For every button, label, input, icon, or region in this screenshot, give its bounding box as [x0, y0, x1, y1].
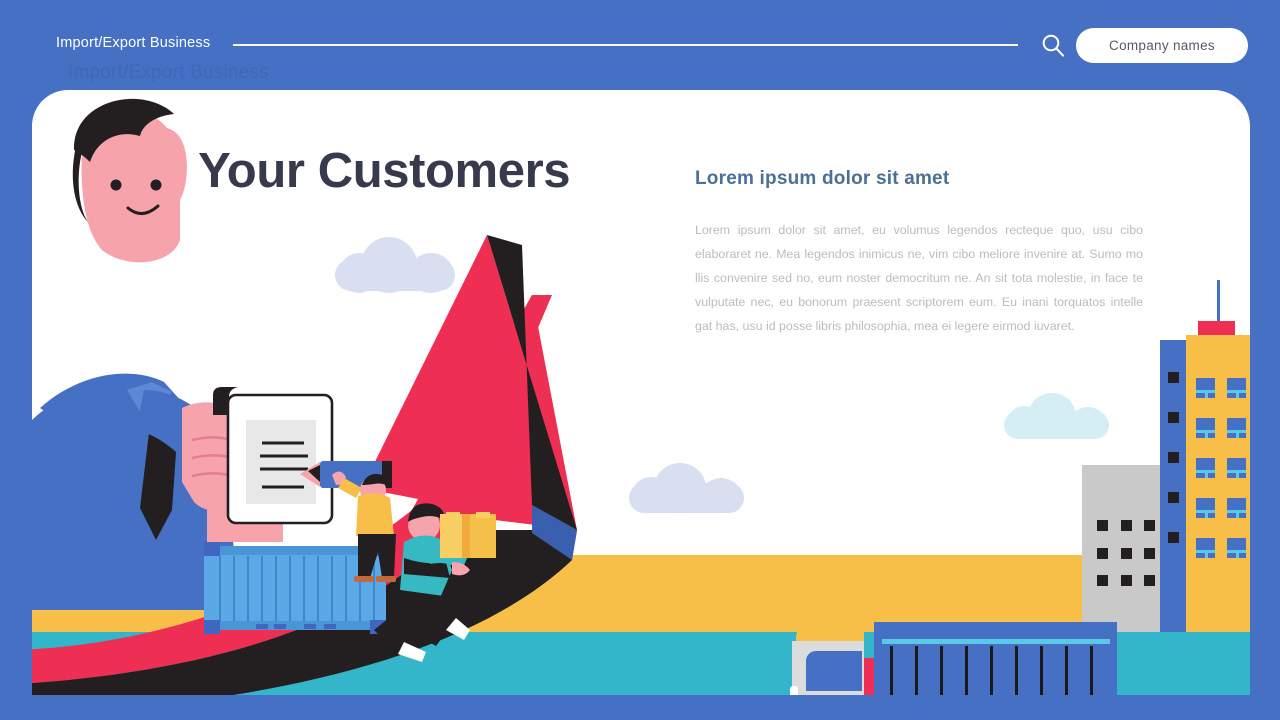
delivery-truck	[784, 598, 1129, 695]
slide-canvas: Import/Export Business Import/Export Bus…	[0, 0, 1280, 720]
brand-ghost-text: Import/Export Business	[68, 62, 269, 84]
document-with-pencil	[213, 387, 332, 523]
slide-header: Import/Export Business Import/Export Bus…	[0, 0, 1280, 90]
businessman-figure	[32, 99, 283, 610]
brand-title: Import/Export Business	[56, 35, 210, 51]
header-divider-line	[233, 44, 1018, 46]
content-card: Find Your Customers Lorem ipsum dolor si…	[32, 90, 1250, 695]
search-icon[interactable]	[1040, 32, 1066, 58]
company-names-button[interactable]: Company names	[1076, 28, 1248, 63]
